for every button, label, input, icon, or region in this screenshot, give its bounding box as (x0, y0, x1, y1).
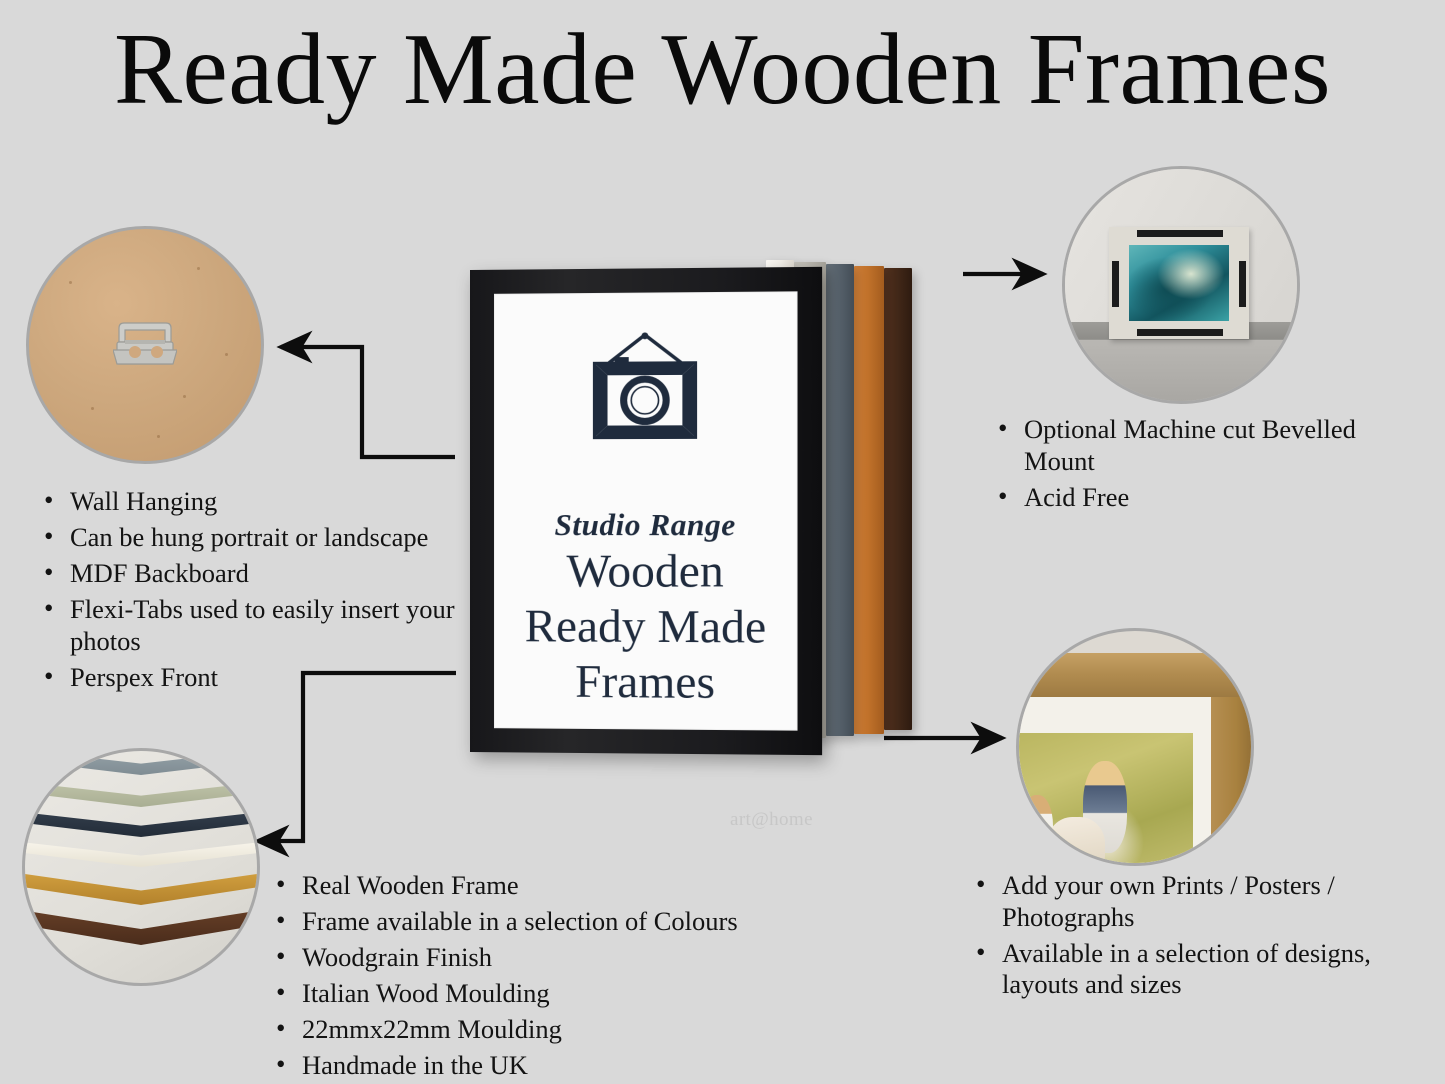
list-item: Flexi-Tabs used to easily insert your ph… (66, 594, 506, 657)
bullets-usage-and-range: Add your own Prints / Posters / Photogra… (968, 870, 1428, 1005)
list-item: 22mmx22mm Moulding (298, 1014, 818, 1046)
stack-frame-oak-orange (854, 266, 884, 734)
list-item: Woodgrain Finish (298, 942, 818, 974)
bullets-mount-features: Optional Machine cut Bevelled Mount Acid… (990, 414, 1420, 518)
bevelled-mount-board (1109, 227, 1249, 339)
poster-artwork: Studio Range Wooden Ready Made Frames (494, 291, 798, 730)
bullets-frame-construction: Real Wooden Frame Frame available in a s… (268, 870, 818, 1084)
list-item: Perspex Front (66, 662, 506, 694)
connector-frame-to-corners-circle (258, 673, 456, 841)
poster-eyebrow: Studio Range (494, 506, 798, 544)
list-item: Italian Wood Moulding (298, 978, 818, 1010)
photo-mdf-backboard (26, 226, 264, 464)
photo-bevelled-mount (1062, 166, 1300, 404)
oak-frame-top-rail (1016, 653, 1254, 697)
list-item: Acid Free (1020, 482, 1420, 514)
list-item: Wall Hanging (66, 486, 506, 518)
bullets-backboard-and-hanging: Wall Hanging Can be hung portrait or lan… (36, 486, 506, 698)
corner-sample-white (22, 837, 260, 867)
corner-sample-gold-oak (22, 867, 260, 905)
photo-frame-corner-samples (22, 748, 260, 986)
sawtooth-hanger-icon (113, 312, 177, 378)
photo-dog (1047, 817, 1105, 866)
list-item: Frame available in a selection of Colour… (298, 906, 818, 938)
corner-sample-brown (22, 903, 260, 945)
corner-sample-navy (22, 807, 260, 837)
list-item: Handmade in the UK (298, 1050, 818, 1082)
corner-sample-sage (22, 777, 260, 807)
poster-text-block: Studio Range Wooden Ready Made Frames (494, 506, 798, 711)
list-item: Real Wooden Frame (298, 870, 818, 902)
poster-line-1: Wooden (494, 544, 798, 600)
watermark: art@home (730, 809, 813, 831)
page-title: Ready Made Wooden Frames (0, 14, 1445, 126)
white-mount (1016, 697, 1211, 866)
list-item: MDF Backboard (66, 558, 506, 590)
main-black-frame: Studio Range Wooden Ready Made Frames (470, 267, 822, 755)
hanging-picture-frame-camera-icon (578, 326, 712, 447)
infographic-page: Ready Made Wooden Frames (0, 0, 1445, 1084)
photo-family-in-oak-frame (1016, 628, 1254, 866)
stack-frame-slate-grey (826, 264, 854, 736)
family-photograph (1016, 733, 1193, 866)
poster-line-3: Frames (494, 654, 798, 711)
list-item: Optional Machine cut Bevelled Mount (1020, 414, 1420, 477)
connector-frame-to-mdf-circle (281, 347, 455, 457)
frame-aperture: Studio Range Wooden Ready Made Frames (494, 291, 798, 730)
stack-frame-dark-brown (884, 268, 912, 730)
corner-sample-grey (22, 748, 260, 775)
frame-stack: Studio Range Wooden Ready Made Frames (466, 250, 986, 770)
list-item: Can be hung portrait or landscape (66, 522, 506, 554)
list-item: Add your own Prints / Posters / Photogra… (998, 870, 1428, 933)
list-item: Available in a selection of designs, lay… (998, 938, 1428, 1001)
wave-artwork (1129, 245, 1229, 321)
poster-line-2: Ready Made (494, 599, 798, 656)
